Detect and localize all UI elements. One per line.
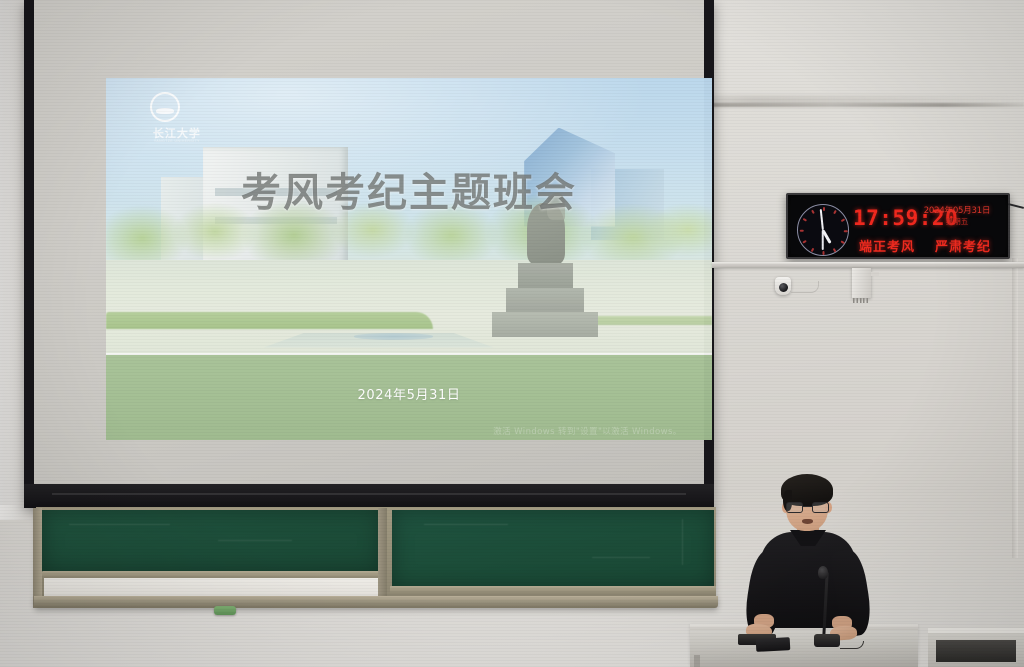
presenter bbox=[742, 472, 874, 650]
plaza-pond bbox=[354, 333, 433, 340]
presentation-slide: 长江大学 YANGTZE UNIVERSITY 考风考纪主题班会 2024年5月… bbox=[106, 78, 712, 440]
statue-pedestal-base bbox=[492, 312, 598, 336]
screen-weight-bar bbox=[24, 484, 714, 508]
logo-english-name: YANGTZE UNIVERSITY bbox=[125, 139, 228, 143]
chalkboard-left-post bbox=[33, 508, 42, 608]
chalkboard-panel-right[interactable] bbox=[392, 510, 714, 588]
glasses-lens-left bbox=[786, 502, 803, 513]
university-logo: 长江大学 YANGTZE UNIVERSITY bbox=[125, 92, 228, 161]
slide-footer-band: 2024年5月31日 激活 Windows 转到"设置"以激活 Windows。 bbox=[106, 353, 712, 440]
podium-leg bbox=[694, 655, 700, 667]
slide-date: 2024年5月31日 bbox=[106, 384, 712, 403]
classroom-scene: 长江大学 YANGTZE UNIVERSITY 考风考纪主题班会 2024年5月… bbox=[0, 0, 1024, 667]
led-weekday-display: 星期五 bbox=[914, 216, 1000, 227]
statue-pedestal-top bbox=[518, 263, 573, 290]
windows-activation-watermark: 激活 Windows 转到"设置"以激活 Windows。 bbox=[493, 427, 681, 438]
chalkboard-eraser[interactable] bbox=[214, 606, 236, 615]
side-desk-surface bbox=[928, 628, 1024, 633]
presenter-mouth bbox=[802, 519, 813, 524]
screen-mat: 长江大学 YANGTZE UNIVERSITY 考风考纪主题班会 2024年5月… bbox=[34, 0, 704, 486]
microphone-head-icon bbox=[818, 566, 828, 579]
analog-clock-icon bbox=[797, 204, 849, 256]
logo-emblem-icon bbox=[150, 92, 180, 122]
chalkboard-rail-right bbox=[390, 586, 716, 593]
led-slogan-left: 端正考风 bbox=[859, 236, 915, 255]
camera-wire bbox=[791, 281, 819, 293]
campus-plaza bbox=[106, 260, 712, 354]
tablet-device[interactable] bbox=[756, 637, 791, 652]
junction-box bbox=[852, 268, 871, 298]
hedge-left bbox=[106, 312, 433, 329]
microphone-base[interactable] bbox=[814, 634, 840, 647]
side-desk-cavity bbox=[936, 640, 1016, 662]
led-panel: 17:59:20 2024年05月31日 星期五 端正考风 严肃考纪 bbox=[791, 198, 1005, 254]
chalk-tray bbox=[34, 596, 718, 608]
clock-minute-hand bbox=[820, 209, 824, 230]
statue-pedestal-mid bbox=[506, 288, 584, 314]
slide-title: 考风考纪主题班会 bbox=[106, 172, 712, 214]
led-clock-board: 17:59:20 2024年05月31日 星期五 端正考风 严肃考纪 bbox=[786, 193, 1010, 259]
glasses-bridge bbox=[803, 506, 812, 507]
led-slogan-right: 严肃考纪 bbox=[935, 236, 991, 255]
glasses-lens-right bbox=[812, 502, 829, 513]
chalkboard-panel-left[interactable] bbox=[42, 510, 380, 572]
led-slogan-row: 端正考风 严肃考纪 bbox=[849, 234, 1001, 256]
chalkboard-rail-left bbox=[42, 571, 382, 578]
led-date-display: 2024年05月31日 bbox=[914, 204, 1000, 216]
chalkboard-divider bbox=[378, 508, 387, 598]
wall-right-jamb bbox=[1012, 258, 1018, 558]
presenter-glasses bbox=[786, 502, 829, 513]
chalkboard-lower-white bbox=[44, 576, 378, 598]
junction-box-stub bbox=[871, 272, 879, 276]
projection-screen: 长江大学 YANGTZE UNIVERSITY 考风考纪主题班会 2024年5月… bbox=[24, 0, 714, 508]
dome-camera-icon bbox=[775, 277, 791, 295]
